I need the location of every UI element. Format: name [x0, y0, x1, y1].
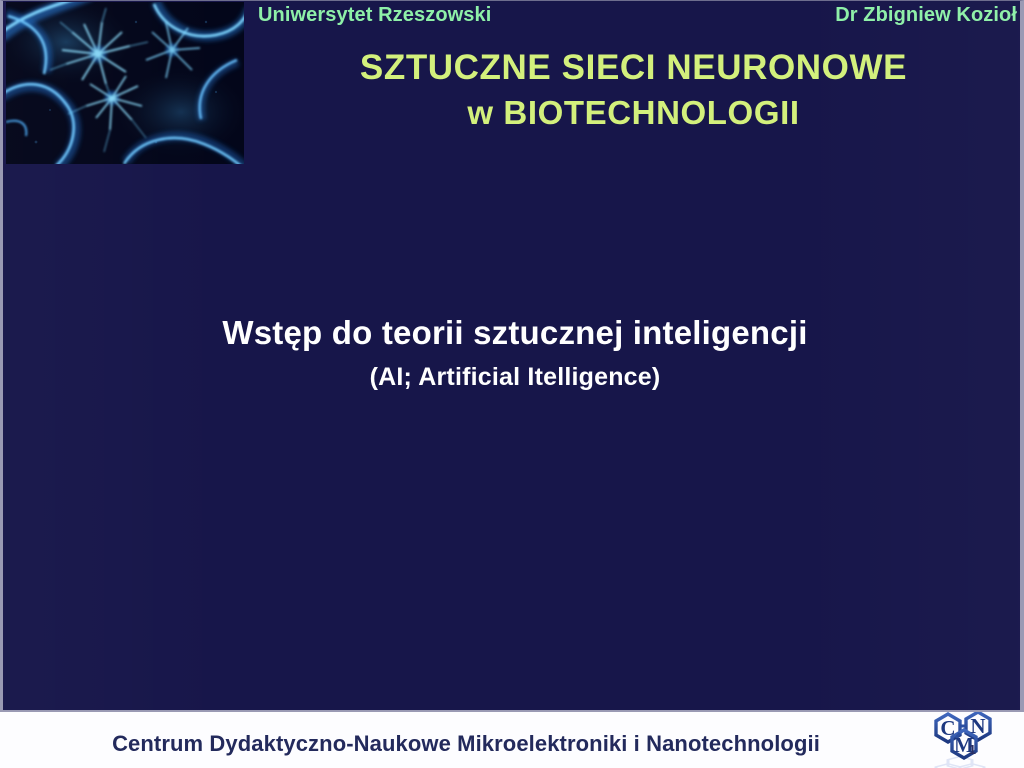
presentation-slide: Uniwersytet Rzeszowski Dr Zbigniew Kozio… — [0, 0, 1024, 768]
page-number: 1 — [969, 742, 976, 757]
course-title: SZTUCZNE SIECI NEURONOWE w BIOTECHNOLOGI… — [244, 45, 1023, 135]
slide-body: Uniwersytet Rzeszowski Dr Zbigniew Kozio… — [0, 0, 1024, 710]
slide-header: Uniwersytet Rzeszowski Dr Zbigniew Kozio… — [244, 1, 1023, 163]
neuron-microscopy-image — [6, 2, 244, 164]
slide-footer: Centrum Dydaktyczno-Naukowe Mikroelektro… — [0, 710, 1024, 768]
slide-title: Wstęp do teorii sztucznej inteligencji — [3, 313, 1024, 353]
course-title-line1: SZTUCZNE SIECI NEURONOWE — [360, 48, 907, 87]
header-top-row: Uniwersytet Rzeszowski Dr Zbigniew Kozio… — [244, 4, 1023, 30]
lecturer-name: Dr Zbigniew Kozioł — [835, 4, 1017, 27]
slide-subtitle: (AI; Artificial Itelligence) — [3, 361, 1024, 393]
cmn-hexagon-logo: C N M — [910, 710, 1018, 768]
footer-organization-name: Centrum Dydaktyczno-Naukowe Mikroelektro… — [0, 731, 1024, 757]
slide-content: Wstęp do teorii sztucznej inteligencji (… — [3, 313, 1024, 393]
institution-name: Uniwersytet Rzeszowski — [258, 4, 491, 27]
course-title-line2: w BIOTECHNOLOGII — [244, 90, 1023, 135]
